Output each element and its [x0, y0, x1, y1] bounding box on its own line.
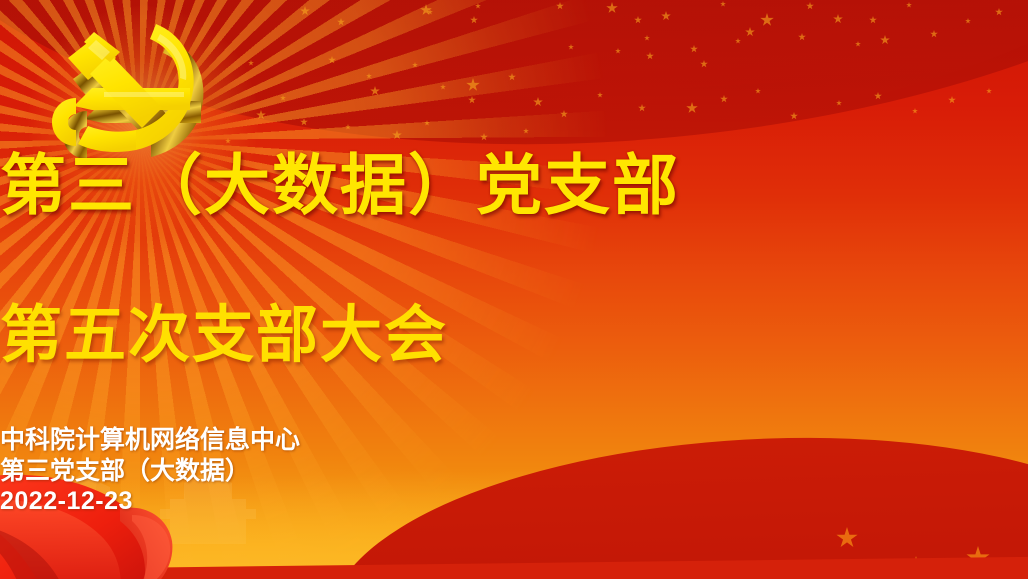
page-title: 第三（大数据）党支部: [0, 152, 1028, 218]
page-subtitle: 第五次支部大会: [0, 305, 1028, 367]
gold-star-icon: [755, 88, 761, 94]
gold-star-icon: [948, 96, 956, 104]
gold-star-icon: [880, 35, 890, 45]
gold-star-icon: [986, 88, 992, 94]
gold-star-icon: [995, 8, 1003, 16]
gold-star-icon: [760, 13, 774, 27]
footer-branch: 第三党支部（大数据）: [0, 456, 1028, 487]
gold-star-icon: [798, 33, 806, 41]
presentation-title-slide: 第三（大数据）党支部 第五次支部大会 中科院计算机网络信息中心 第三党支部（大数…: [0, 0, 1028, 579]
gold-star-icon: [644, 35, 650, 41]
footer-block: 中科院计算机网络信息中心 第三党支部（大数据） 2022-12-23: [0, 425, 1028, 517]
gold-star-icon: [806, 2, 814, 10]
gold-star-icon: [855, 41, 861, 47]
gold-star-icon: [735, 38, 741, 44]
gold-star-icon: [874, 92, 882, 100]
gold-star-icon: [833, 14, 843, 24]
gold-star-icon: [646, 52, 654, 60]
footer-organization: 中科院计算机网络信息中心: [0, 425, 1028, 456]
gold-star-icon: [720, 95, 728, 103]
gold-star-icon: [869, 16, 877, 24]
gold-star-icon: [836, 100, 842, 106]
gold-star-icon: [965, 18, 971, 24]
gold-star-icon: [686, 102, 698, 114]
gold-star-icon: [745, 27, 755, 37]
gold-star-icon: [720, 1, 726, 7]
gold-star-icon: [700, 60, 708, 68]
gold-star-icon: [912, 108, 918, 114]
gold-star-icon: [690, 45, 698, 53]
gold-star-icon: [906, 2, 912, 8]
gold-star-icon: [930, 30, 938, 38]
footer-date: 2022-12-23: [0, 486, 1028, 517]
gold-star-icon: [790, 112, 798, 120]
gold-star-icon: [661, 11, 671, 21]
